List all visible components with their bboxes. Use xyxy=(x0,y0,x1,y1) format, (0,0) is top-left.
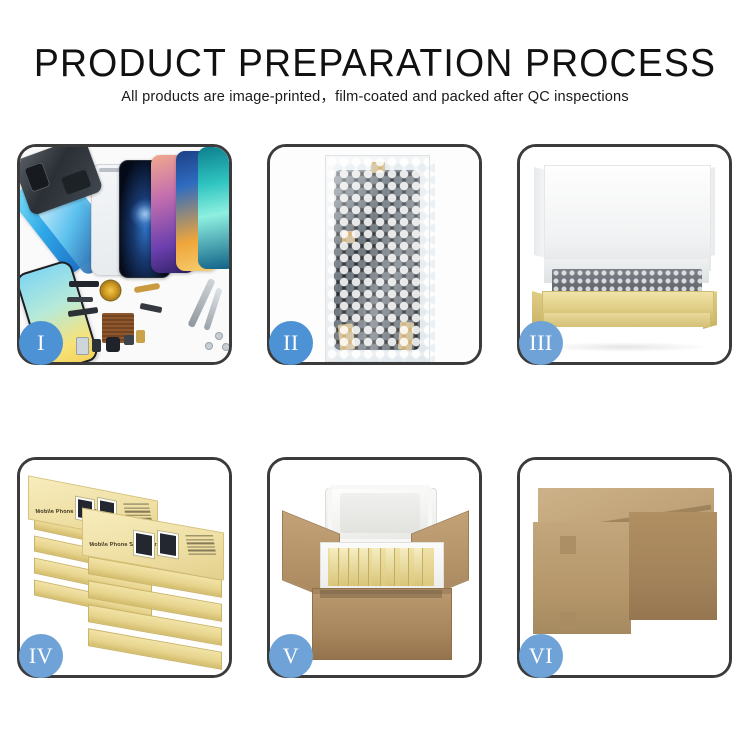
process-step-panel-1: I xyxy=(17,144,232,365)
box-label-image-b2 xyxy=(157,530,179,560)
carton-right-face xyxy=(629,512,717,620)
screw-part-1 xyxy=(216,333,222,339)
small-part-4 xyxy=(124,335,134,345)
flex-cable-part-3 xyxy=(140,303,163,313)
process-step-grid: I xyxy=(0,0,750,750)
box-drop-shadow xyxy=(540,342,710,352)
carton-body xyxy=(312,588,452,660)
step-badge-4: IV xyxy=(19,634,63,678)
flex-cable-part-5 xyxy=(69,281,99,287)
carton-tape-upper xyxy=(560,536,576,554)
process-step-panel-6: VI xyxy=(517,457,732,678)
small-part-3 xyxy=(106,337,120,352)
carton-left-face xyxy=(533,522,631,634)
bubble-wrap-bag xyxy=(325,155,430,362)
flex-cable-part-4 xyxy=(134,283,161,293)
carton-tape-lower xyxy=(560,612,576,630)
screw-part-2 xyxy=(206,343,212,349)
small-part-5 xyxy=(136,330,145,343)
product-preparation-process-page: PRODUCT PREPARATION PROCESS All products… xyxy=(0,0,750,750)
plastic-sheen-overlay xyxy=(326,156,429,361)
step-badge-2: II xyxy=(269,321,313,365)
box-label-image-b1 xyxy=(133,529,155,559)
camera-module-icon xyxy=(101,281,120,300)
phone-teal-display xyxy=(198,147,229,269)
small-part-2 xyxy=(92,339,101,352)
process-step-panel-4: Mobile Phone Spare Parts Mobile Phone Sp… xyxy=(17,457,232,678)
flex-cable-part-2 xyxy=(67,297,93,302)
carton-inner-shadow xyxy=(320,590,442,598)
foam-lid-recess xyxy=(340,493,420,533)
screw-part-3 xyxy=(223,344,229,350)
process-step-panel-5: V xyxy=(267,457,482,678)
step-badge-5: V xyxy=(269,634,313,678)
small-part-1 xyxy=(76,337,89,355)
box-label-lines-b xyxy=(185,535,216,557)
white-foam-lid xyxy=(544,165,711,271)
yellow-boxes-inside xyxy=(328,548,434,586)
process-step-panel-2: II xyxy=(267,144,482,365)
process-step-panel-3: III xyxy=(517,144,732,365)
yellow-box-front-face xyxy=(544,313,710,327)
step-badge-3: III xyxy=(519,321,563,365)
step-badge-1: I xyxy=(19,321,63,365)
step-badge-6: VI xyxy=(519,634,563,678)
